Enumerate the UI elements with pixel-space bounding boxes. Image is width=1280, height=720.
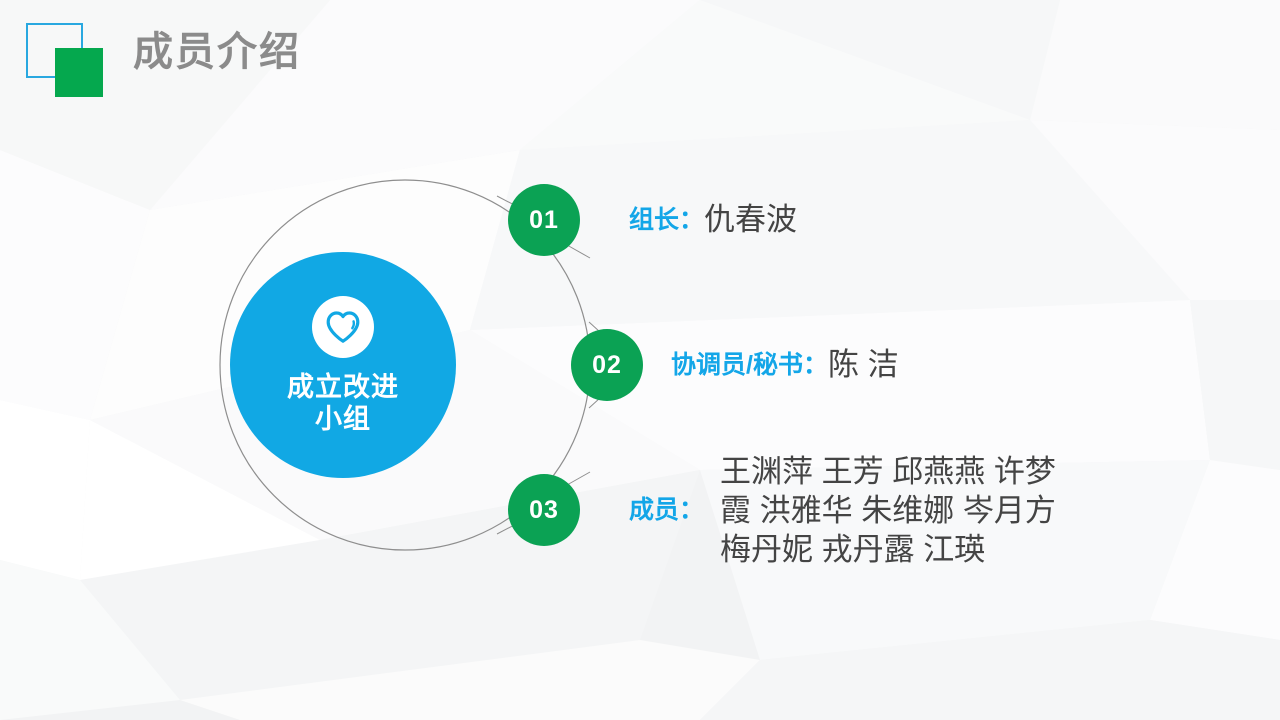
step-badge-03[interactable]: 03 xyxy=(508,474,580,546)
hub-icon-badge xyxy=(312,296,374,358)
member-diagram: 成立改进小组 01 02 03 组长： 仇春波 协调员/秘书： 陈 洁 成员： … xyxy=(0,0,1280,720)
hub-label: 成立改进小组 xyxy=(287,372,399,436)
member-row-02: 协调员/秘书： 陈 洁 xyxy=(671,345,899,385)
member-row-03: 成员： 王渊萍 王芳 邱燕燕 许梦霞 洪雅华 朱维娜 岑月方 梅丹妮 戎丹露 江… xyxy=(629,452,1072,568)
slide-canvas: 成员介绍 成立改进小组 01 02 03 xyxy=(0,0,1280,720)
row-02-label: 协调员/秘书： xyxy=(671,345,828,385)
row-02-value: 陈 洁 xyxy=(828,345,899,385)
row-03-value: 王渊萍 王芳 邱燕燕 许梦霞 洪雅华 朱维娜 岑月方 梅丹妮 戎丹露 江瑛 xyxy=(720,452,1072,569)
row-01-value: 仇春波 xyxy=(704,200,797,240)
member-row-01: 组长： 仇春波 xyxy=(629,200,797,240)
row-03-label: 成员： xyxy=(629,490,704,530)
step-badge-01[interactable]: 01 xyxy=(508,184,580,256)
heart-icon xyxy=(324,310,362,344)
step-badge-02[interactable]: 02 xyxy=(571,329,643,401)
row-01-label: 组长： xyxy=(629,200,704,240)
hub-circle: 成立改进小组 xyxy=(230,252,456,478)
